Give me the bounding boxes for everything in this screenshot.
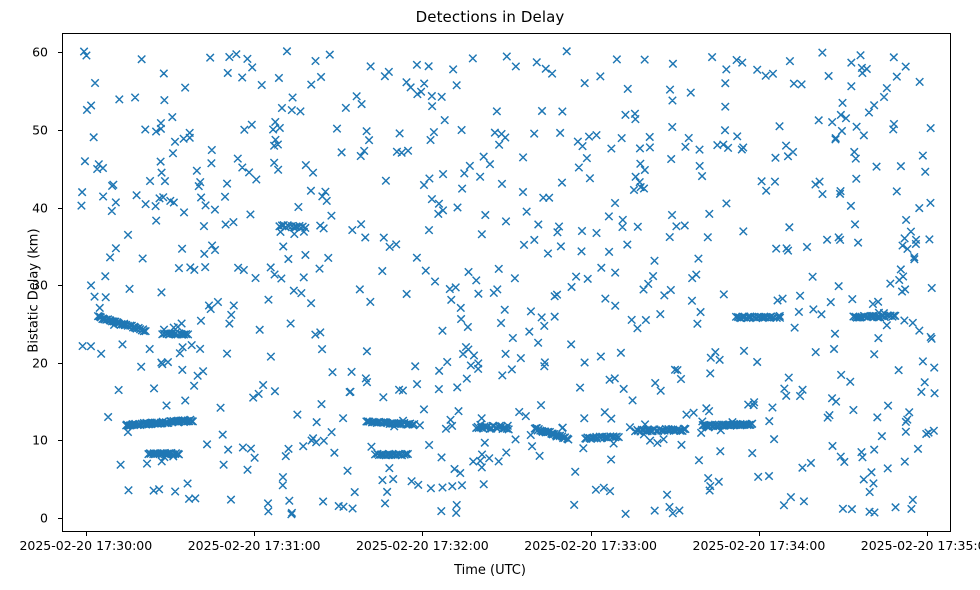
y-tick-label: 40 bbox=[8, 200, 48, 215]
x-tick-mark bbox=[254, 532, 255, 536]
plot-area bbox=[62, 33, 951, 532]
x-tick-label: 2025-02-20 17:31:00 bbox=[188, 538, 321, 553]
y-axis-label: Bistatic Delay (km) bbox=[27, 171, 42, 411]
y-tick-label: 10 bbox=[8, 433, 48, 448]
y-tick-label: 60 bbox=[8, 45, 48, 60]
x-tick-label: 2025-02-20 17:34:00 bbox=[693, 538, 826, 553]
x-axis-label: Time (UTC) bbox=[0, 563, 980, 578]
scatter-points-layer bbox=[63, 34, 950, 531]
scatter-series-detections bbox=[78, 48, 939, 518]
y-tick-label: 30 bbox=[8, 278, 48, 293]
x-tick-mark bbox=[759, 532, 760, 536]
x-tick-label: 2025-02-20 17:32:00 bbox=[356, 538, 489, 553]
x-tick-label: 2025-02-20 17:35:00 bbox=[861, 538, 980, 553]
x-tick-mark bbox=[591, 532, 592, 536]
y-tick-label: 20 bbox=[8, 355, 48, 370]
x-tick-mark bbox=[422, 532, 423, 536]
x-tick-label: 2025-02-20 17:30:00 bbox=[19, 538, 152, 553]
scatter-marker-path bbox=[78, 48, 939, 518]
y-tick-label: 0 bbox=[8, 511, 48, 526]
y-tick-label: 50 bbox=[8, 123, 48, 138]
x-tick-mark bbox=[927, 532, 928, 536]
x-tick-mark bbox=[86, 532, 87, 536]
x-tick-label: 2025-02-20 17:33:00 bbox=[524, 538, 657, 553]
matplotlib-figure: Detections in Delay Bistatic Delay (km) … bbox=[0, 0, 980, 590]
page-title: Detections in Delay bbox=[0, 8, 980, 26]
